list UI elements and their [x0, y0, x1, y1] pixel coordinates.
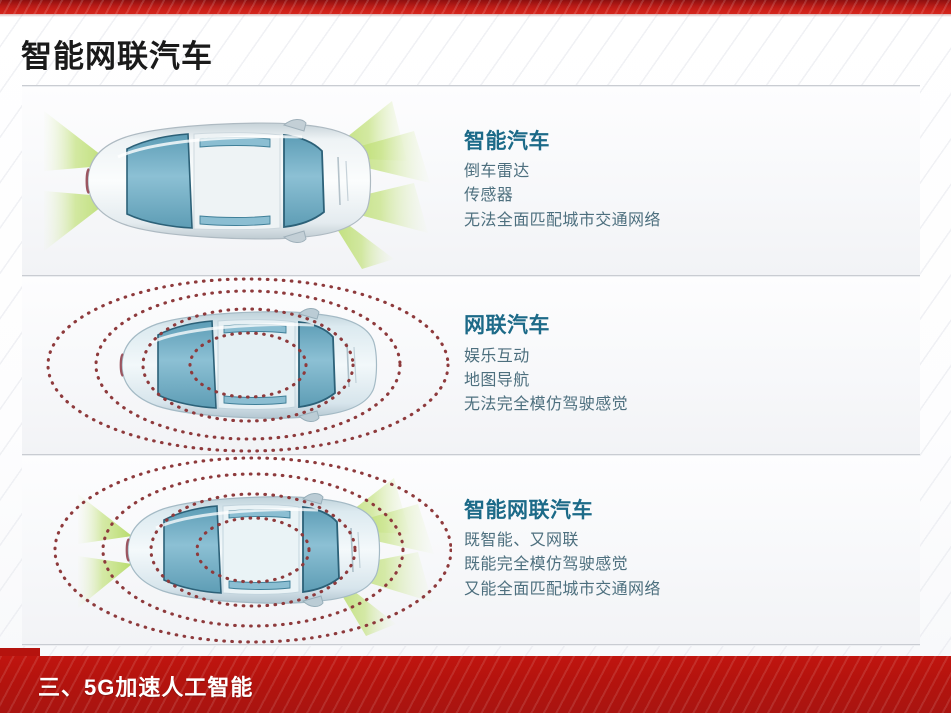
car-top-view	[87, 119, 371, 242]
footer-section-label: 三、5G加速人工智能	[38, 670, 253, 702]
car-top-view	[127, 493, 380, 606]
section-intelligent-car: 智能汽车 倒车雷达 传感器 无法全面匹配城市交通网络	[22, 87, 920, 275]
illustration-car-with-radar-and-network	[22, 456, 452, 644]
section-line: 又能全面匹配城市交通网络	[464, 578, 914, 602]
section-line: 倒车雷达	[464, 160, 914, 184]
car-top-view	[121, 308, 377, 421]
section-line: 地图导航	[464, 369, 914, 393]
slide-canvas: 智能网联汽车	[0, 0, 951, 713]
page-title: 智能网联汽车	[21, 31, 213, 76]
divider-bottom	[22, 644, 920, 646]
section-line: 娱乐互动	[464, 345, 914, 369]
section-line: 传感器	[464, 184, 914, 208]
section-text-intelligent-connected-car: 智能网联汽车 既智能、又网联 既能完全模仿驾驶感觉 又能全面匹配城市交通网络	[464, 456, 914, 644]
section-text-intelligent-car: 智能汽车 倒车雷达 传感器 无法全面匹配城市交通网络	[464, 87, 914, 275]
section-connected-car: 网联汽车 娱乐互动 地图导航 无法完全模仿驾驶感觉	[22, 277, 920, 454]
top-red-bar	[0, 0, 951, 14]
section-heading: 网联汽车	[464, 313, 914, 339]
section-line: 无法完全模仿驾驶感觉	[464, 393, 914, 417]
section-heading: 智能汽车	[464, 129, 914, 155]
section-line: 既智能、又网联	[464, 529, 914, 553]
illustration-car-with-network-rings	[22, 277, 452, 454]
section-line: 无法全面匹配城市交通网络	[464, 209, 914, 233]
illustration-car-with-radar-cones	[22, 87, 452, 275]
section-intelligent-connected-car: 智能网联汽车 既智能、又网联 既能完全模仿驾驶感觉 又能全面匹配城市交通网络	[22, 456, 920, 644]
section-line: 既能完全模仿驾驶感觉	[464, 553, 914, 577]
section-text-connected-car: 网联汽车 娱乐互动 地图导航 无法完全模仿驾驶感觉	[464, 277, 914, 454]
top-bar-shadow	[0, 14, 951, 17]
section-heading: 智能网联汽车	[464, 498, 914, 524]
